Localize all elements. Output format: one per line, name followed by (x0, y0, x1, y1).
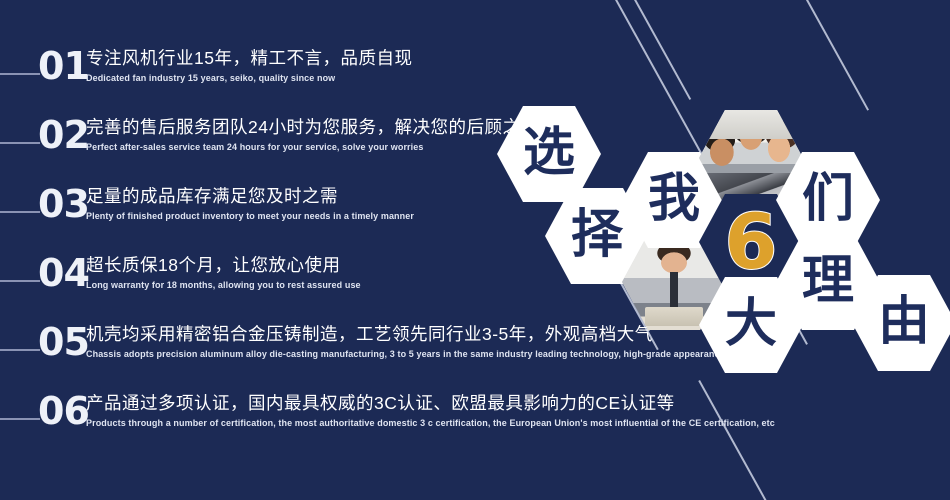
list-item-title-cn: 超长质保18个月，让您放心使用 (86, 254, 340, 276)
list-item-title-cn: 足量的成品库存满足您及时之需 (86, 185, 338, 207)
hex-da-label: 大 (725, 298, 777, 350)
hex-xuan-label: 选 (523, 127, 575, 179)
list-item-title-en: Long warranty for 18 months, allowing yo… (86, 279, 361, 291)
hex-men-label: 们 (802, 173, 854, 225)
list-item-number: 03 (38, 184, 89, 224)
row-rule (0, 418, 40, 420)
list-item-title-cn: 专注风机行业15年，精工不言，品质自现 (86, 47, 412, 69)
list-item-title-en: Plenty of finished product inventory to … (86, 210, 414, 222)
row-rule (0, 349, 40, 351)
hex-wo-label: 我 (648, 173, 700, 225)
list-item-title-en: Perfect after-sales service team 24 hour… (86, 141, 423, 153)
row-rule (0, 280, 40, 282)
poster-canvas: 01 专注风机行业15年，精工不言，品质自现 Dedicated fan ind… (0, 0, 950, 500)
diagonal-line-1 (632, 0, 692, 100)
list-item-number: 04 (38, 253, 89, 293)
list-item-title-en: Dedicated fan industry 15 years, seiko, … (86, 72, 335, 84)
list-item-title-en: Products through a number of certificati… (86, 417, 775, 429)
list-item-number: 05 (38, 322, 89, 362)
list-item-title-en: Chassis adopts precision aluminum alloy … (86, 348, 779, 360)
row-rule (0, 73, 40, 75)
diagonal-line-4 (805, 0, 869, 110)
hex-six-label: 6 (725, 204, 778, 280)
list-item-number: 02 (38, 115, 89, 155)
list-item-title-cn: 完善的售后服务团队24小时为您服务，解决您的后顾之忧 (86, 116, 538, 138)
list-item-number: 01 (38, 46, 89, 86)
list-item-title-cn: 产品通过多项认证，国内最具权威的3C认证、欧盟最具影响力的CE认证等 (86, 392, 675, 414)
list-item-number: 06 (38, 391, 89, 431)
list-item-title-cn: 机壳均采用精密铝合金压铸制造，工艺领先同行业3-5年，外观高档大气 (86, 323, 653, 345)
row-rule (0, 142, 40, 144)
hex-ze-label: 择 (571, 209, 623, 261)
diagonal-line-5 (699, 380, 773, 500)
hex-li-label: 理 (802, 255, 854, 307)
row-rule (0, 211, 40, 213)
hex-you-label: 由 (878, 296, 930, 348)
